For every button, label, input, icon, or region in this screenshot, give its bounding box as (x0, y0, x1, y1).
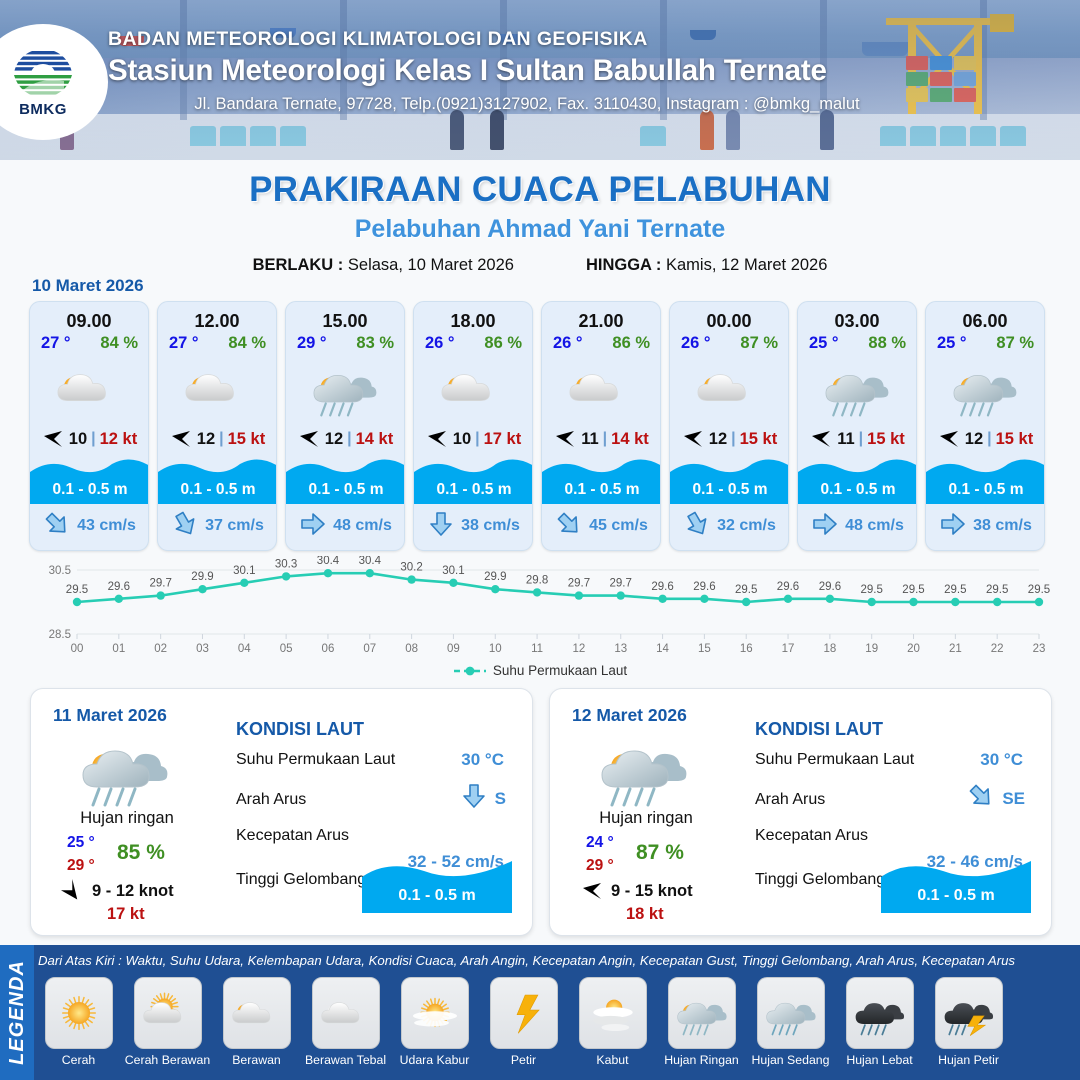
forecast-card: 12.00 27 ° 84 % 12 | 15 kt 0.1 - 0.5 m 3… (157, 301, 277, 551)
legend-note: Dari Atas Kiri : Waktu, Suhu Udara, Kele… (38, 953, 1078, 968)
panel-temp-max: 29 ° (67, 857, 95, 875)
svg-text:03: 03 (196, 643, 209, 655)
card-current-speed: 38 cm/s (461, 517, 520, 535)
panel-wave-band: 0.1 - 0.5 m (881, 855, 1031, 913)
card-current-speed: 32 cm/s (717, 517, 776, 535)
svg-text:29.6: 29.6 (108, 581, 130, 593)
card-wind-separator: | (219, 430, 223, 448)
card-temperature: 26 ° (553, 334, 583, 353)
card-wave-band: 0.1 - 0.5 m (158, 454, 277, 504)
svg-text:19: 19 (865, 643, 878, 655)
legend-marker-icon (453, 665, 487, 677)
svg-text:29.6: 29.6 (651, 581, 673, 593)
svg-text:28.5: 28.5 (49, 629, 71, 641)
header-text-block: BADAN METEOROLOGI KLIMATOLOGI DAN GEOFIS… (108, 28, 946, 114)
card-gust: 15 kt (740, 430, 778, 449)
legend-item: Berawan (214, 977, 299, 1067)
svg-text:01: 01 (112, 643, 125, 655)
svg-text:30.1: 30.1 (233, 565, 255, 577)
card-gust: 15 kt (996, 430, 1034, 449)
card-wind-speed: 12 (197, 430, 215, 449)
daily-summary-panel: 11 Maret 2026 Hujan ringan 25 ° 29 ° 85 … (30, 688, 533, 936)
card-wind-row: 11 | 14 kt (542, 427, 660, 451)
svg-text:14: 14 (656, 643, 669, 655)
svg-text:12: 12 (573, 643, 586, 655)
panel-temp-min: 25 ° (67, 834, 95, 852)
svg-text:00: 00 (71, 643, 84, 655)
card-temp-hum-row: 25 ° 87 % (926, 332, 1044, 353)
station-name: Stasiun Meteorologi Kelas I Sultan Babul… (108, 54, 946, 88)
card-wind-speed: 11 (837, 430, 854, 449)
validity-from-label: BERLAKU : (253, 256, 344, 274)
card-wave-height: 0.1 - 0.5 m (30, 481, 149, 499)
legend-icon-hujan-lebat (846, 977, 914, 1049)
current-direction-arrow-icon (428, 511, 454, 542)
card-temp-hum-row: 27 ° 84 % (158, 332, 276, 353)
card-weather-icon-hujan-ringan (798, 357, 916, 419)
panel-gust: 17 kt (107, 905, 145, 924)
panel-weather-icon-hujan-ringan (75, 729, 175, 807)
card-current-row: 43 cm/s (30, 510, 149, 542)
forecast-day-label: 10 Maret 2026 (32, 276, 144, 296)
panel-condition: Hujan ringan (556, 809, 736, 828)
svg-text:29.7: 29.7 (610, 578, 632, 590)
card-wave-band: 0.1 - 0.5 m (30, 454, 149, 504)
legend-item: Berawan Tebal (303, 977, 388, 1067)
wind-direction-arrow-icon (41, 429, 65, 449)
legend-section: LEGENDA Dari Atas Kiri : Waktu, Suhu Uda… (0, 945, 1080, 1080)
card-temperature: 26 ° (681, 334, 711, 353)
card-wind-speed: 12 (709, 430, 727, 449)
svg-text:20: 20 (907, 643, 920, 655)
bmkg-logo-text: BMKG (19, 101, 67, 118)
card-wind-row: 12 | 15 kt (158, 427, 276, 451)
wind-direction-arrow-icon (681, 429, 705, 449)
legend-item: Udara Kabur (392, 977, 477, 1067)
panel-current-dir-label: Arah Arus (236, 791, 306, 809)
card-humidity: 88 % (868, 334, 906, 353)
card-humidity: 84 % (100, 334, 138, 353)
card-humidity: 84 % (228, 334, 266, 353)
panel-date: 12 Maret 2026 (572, 705, 687, 726)
bmkg-emblem-icon (12, 47, 74, 99)
legend-icon-berawan-tebal (312, 977, 380, 1049)
svg-text:04: 04 (238, 643, 251, 655)
card-humidity: 87 % (740, 334, 778, 353)
wind-direction-arrow-icon (580, 881, 604, 901)
panel-weather-icon-hujan-ringan (594, 729, 694, 807)
card-wind-row: 11 | 15 kt (798, 427, 916, 451)
current-direction-arrow-icon (172, 511, 198, 542)
wind-direction-arrow-icon (553, 429, 577, 449)
panel-wave-label: Tinggi Gelombang (236, 871, 366, 889)
card-weather-icon-hujan-ringan (926, 357, 1044, 419)
card-wind-separator: | (731, 430, 735, 448)
card-gust: 14 kt (356, 430, 394, 449)
legend-item: Hujan Ringan (659, 977, 744, 1067)
card-wave-height: 0.1 - 0.5 m (798, 481, 917, 499)
forecast-card: 15.00 29 ° 83 % 12 | 14 kt 0.1 - 0.5 m 4… (285, 301, 405, 551)
svg-text:17: 17 (782, 643, 795, 655)
card-temperature: 25 ° (937, 334, 967, 353)
svg-text:29.6: 29.6 (777, 581, 799, 593)
svg-text:30.5: 30.5 (49, 565, 71, 577)
page-subtitle: Pelabuhan Ahmad Yani Ternate (0, 215, 1080, 244)
card-wind-speed: 12 (965, 430, 983, 449)
legend-item-label: Petir (511, 1053, 536, 1067)
svg-text:13: 13 (614, 643, 627, 655)
panel-wind-row: 9 - 15 knot (580, 881, 693, 901)
card-current-row: 37 cm/s (158, 510, 277, 542)
card-humidity: 86 % (484, 334, 522, 353)
svg-text:30.1: 30.1 (442, 565, 464, 577)
card-temp-hum-row: 27 ° 84 % (30, 332, 148, 353)
card-temp-hum-row: 29 ° 83 % (286, 332, 404, 353)
card-wind-row: 12 | 14 kt (286, 427, 404, 451)
card-wave-band: 0.1 - 0.5 m (670, 454, 789, 504)
wind-direction-arrow-icon (937, 429, 961, 449)
card-wind-separator: | (347, 430, 351, 448)
legend-item-label: Berawan Tebal (305, 1053, 386, 1067)
card-temperature: 27 ° (41, 334, 71, 353)
svg-text:29.5: 29.5 (1028, 584, 1050, 596)
hourly-forecast-row: 09.00 27 ° 84 % 10 | 12 kt 0.1 - 0.5 m 4… (29, 301, 1051, 551)
card-weather-icon-hujan-ringan (286, 357, 404, 419)
panel-current-dir-row: SE (968, 783, 1025, 814)
svg-text:09: 09 (447, 643, 460, 655)
card-gust: 14 kt (611, 430, 649, 449)
panel-sst-label: Suhu Permukaan Laut (755, 751, 914, 769)
sst-chart-plot: 30.528.500010203040506070809101112131415… (29, 556, 1051, 656)
panel-wind-range: 9 - 15 knot (611, 882, 693, 901)
legend-item-label: Hujan Petir (938, 1053, 999, 1067)
card-current-speed: 48 cm/s (845, 517, 904, 535)
card-wind-row: 12 | 15 kt (670, 427, 788, 451)
svg-text:10: 10 (489, 643, 502, 655)
svg-text:30.4: 30.4 (317, 556, 340, 567)
card-current-speed: 45 cm/s (589, 517, 648, 535)
card-wave-height: 0.1 - 0.5 m (286, 481, 405, 499)
panel-humidity: 87 % (636, 841, 684, 865)
panel-wave-label: Tinggi Gelombang (755, 871, 885, 889)
legend-item-label: Hujan Sedang (752, 1053, 830, 1067)
legend-item-label: Cerah (62, 1053, 96, 1067)
legend-item-label: Hujan Lebat (846, 1053, 912, 1067)
current-direction-arrow-icon (461, 783, 487, 814)
card-gust: 15 kt (228, 430, 266, 449)
card-wave-height: 0.1 - 0.5 m (542, 481, 661, 499)
card-wave-band: 0.1 - 0.5 m (798, 454, 917, 504)
card-current-row: 32 cm/s (670, 510, 789, 542)
panel-wave-value: 0.1 - 0.5 m (362, 887, 512, 905)
validity-to-label: HINGGA : (586, 256, 661, 274)
panel-current-speed-label: Kecepatan Arus (236, 827, 349, 845)
card-weather-icon-berawan (30, 357, 148, 419)
current-direction-arrow-icon (684, 511, 710, 542)
card-weather-icon-berawan (158, 357, 276, 419)
svg-text:29.9: 29.9 (191, 571, 213, 583)
wind-direction-arrow-icon (297, 429, 321, 449)
svg-text:29.5: 29.5 (735, 584, 757, 596)
card-wind-separator: | (859, 430, 863, 448)
panel-wave-value: 0.1 - 0.5 m (881, 887, 1031, 905)
svg-text:29.5: 29.5 (986, 584, 1008, 596)
svg-text:21: 21 (949, 643, 962, 655)
svg-text:29.6: 29.6 (819, 581, 841, 593)
legend-icon-udara-kabur (401, 977, 469, 1049)
legend-item: Hujan Sedang (748, 977, 833, 1067)
wind-direction-arrow-icon (61, 881, 85, 901)
panel-current-dir-label: Arah Arus (755, 791, 825, 809)
legend-side-bar: LEGENDA (0, 945, 34, 1080)
legend-item: Cerah Berawan (125, 977, 210, 1067)
validity-to: HINGGA : Kamis, 12 Maret 2026 (586, 256, 827, 274)
card-wind-speed: 11 (581, 430, 598, 449)
current-direction-arrow-icon (556, 511, 582, 542)
card-wind-row: 10 | 12 kt (30, 427, 148, 451)
panel-gust: 18 kt (626, 905, 664, 924)
card-gust: 17 kt (484, 430, 522, 449)
forecast-card: 06.00 25 ° 87 % 12 | 15 kt 0.1 - 0.5 m 3… (925, 301, 1045, 551)
svg-text:05: 05 (280, 643, 293, 655)
panel-current-dir-value: SE (1002, 789, 1025, 809)
svg-text:23: 23 (1033, 643, 1046, 655)
current-direction-arrow-icon (300, 511, 326, 542)
card-temperature: 27 ° (169, 334, 199, 353)
card-current-speed: 38 cm/s (973, 517, 1032, 535)
svg-text:29.5: 29.5 (902, 584, 924, 596)
legend-item-label: Cerah Berawan (125, 1053, 210, 1067)
panel-current-speed-label: Kecepatan Arus (755, 827, 868, 845)
svg-text:29.5: 29.5 (66, 584, 88, 596)
card-current-row: 48 cm/s (286, 510, 405, 542)
legend-item-label: Udara Kabur (400, 1053, 470, 1067)
validity-from-value: Selasa, 10 Maret 2026 (348, 256, 514, 274)
card-wave-height: 0.1 - 0.5 m (158, 481, 277, 499)
panel-sst-value: 30 °C (980, 750, 1023, 770)
svg-text:29.9: 29.9 (484, 571, 506, 583)
forecast-card: 03.00 25 ° 88 % 11 | 15 kt 0.1 - 0.5 m 4… (797, 301, 917, 551)
card-temperature: 25 ° (809, 334, 839, 353)
daily-summary-row: 11 Maret 2026 Hujan ringan 25 ° 29 ° 85 … (30, 688, 1052, 936)
card-wind-speed: 10 (453, 430, 471, 449)
svg-text:29.5: 29.5 (944, 584, 966, 596)
card-current-speed: 37 cm/s (205, 517, 264, 535)
card-temp-hum-row: 26 ° 86 % (414, 332, 532, 353)
card-temp-hum-row: 26 ° 86 % (542, 332, 660, 353)
card-wave-height: 0.1 - 0.5 m (414, 481, 533, 499)
card-humidity: 86 % (612, 334, 650, 353)
svg-text:22: 22 (991, 643, 1004, 655)
current-direction-arrow-icon (940, 511, 966, 542)
legend-icon-hujan-sedang (757, 977, 825, 1049)
card-current-row: 45 cm/s (542, 510, 661, 542)
legend-icon-petir (490, 977, 558, 1049)
panel-sst-value: 30 °C (461, 750, 504, 770)
card-wind-speed: 10 (69, 430, 87, 449)
legend-item: Hujan Lebat (837, 977, 922, 1067)
svg-text:29.5: 29.5 (861, 584, 883, 596)
panel-humidity: 85 % (117, 841, 165, 865)
panel-wind-range: 9 - 12 knot (92, 882, 174, 901)
card-wind-row: 12 | 15 kt (926, 427, 1044, 451)
card-current-row: 38 cm/s (926, 510, 1045, 542)
legend-icon-berawan (223, 977, 291, 1049)
validity-range: BERLAKU : Selasa, 10 Maret 2026HINGGA : … (0, 256, 1080, 275)
panel-temp-min: 24 ° (586, 834, 614, 852)
card-time: 18.00 (414, 311, 532, 332)
card-wind-row: 10 | 17 kt (414, 427, 532, 451)
card-time: 00.00 (670, 311, 788, 332)
panel-wave-band: 0.1 - 0.5 m (362, 855, 512, 913)
legend-item-label: Berawan (232, 1053, 281, 1067)
card-weather-icon-berawan (542, 357, 660, 419)
card-temperature: 29 ° (297, 334, 327, 353)
svg-text:06: 06 (322, 643, 335, 655)
svg-text:29.7: 29.7 (568, 578, 590, 590)
chart-legend-label: Suhu Permukaan Laut (493, 663, 627, 678)
svg-text:29.6: 29.6 (693, 581, 715, 593)
legend-item-label: Hujan Ringan (664, 1053, 739, 1067)
legend-item: Cerah (36, 977, 121, 1067)
panel-date: 11 Maret 2026 (53, 705, 167, 726)
page-header: BMKG BADAN METEOROLOGI KLIMATOLOGI DAN G… (0, 0, 1080, 160)
svg-text:29.8: 29.8 (526, 574, 548, 586)
card-humidity: 87 % (996, 334, 1034, 353)
legend-icon-kabut (579, 977, 647, 1049)
card-time: 06.00 (926, 311, 1044, 332)
page-title: PRAKIRAAN CUACA PELABUHAN (0, 170, 1080, 210)
forecast-card: 00.00 26 ° 87 % 12 | 15 kt 0.1 - 0.5 m 3… (669, 301, 789, 551)
chart-legend: Suhu Permukaan Laut (29, 663, 1051, 678)
legend-item: Kabut (570, 977, 655, 1067)
svg-text:30.4: 30.4 (359, 556, 382, 567)
wind-direction-arrow-icon (809, 429, 833, 449)
validity-to-value: Kamis, 12 Maret 2026 (666, 256, 827, 274)
legend-side-title: LEGENDA (6, 960, 29, 1065)
card-wind-speed: 12 (325, 430, 343, 449)
card-wave-band: 0.1 - 0.5 m (542, 454, 661, 504)
panel-sea-title: KONDISI LAUT (755, 719, 883, 740)
card-current-speed: 48 cm/s (333, 517, 392, 535)
card-temp-hum-row: 25 ° 88 % (798, 332, 916, 353)
forecast-card: 18.00 26 ° 86 % 10 | 17 kt 0.1 - 0.5 m 3… (413, 301, 533, 551)
forecast-card: 21.00 26 ° 86 % 11 | 14 kt 0.1 - 0.5 m 4… (541, 301, 661, 551)
card-wind-separator: | (475, 430, 479, 448)
sst-chart: 30.528.500010203040506070809101112131415… (29, 556, 1051, 684)
legend-icon-hujan-petir (935, 977, 1003, 1049)
current-direction-arrow-icon (812, 511, 838, 542)
current-direction-arrow-icon (44, 511, 70, 542)
svg-text:02: 02 (154, 643, 167, 655)
card-current-row: 38 cm/s (414, 510, 533, 542)
forecast-card: 09.00 27 ° 84 % 10 | 12 kt 0.1 - 0.5 m 4… (29, 301, 149, 551)
svg-text:30.3: 30.3 (275, 558, 297, 570)
wind-direction-arrow-icon (425, 429, 449, 449)
card-temperature: 26 ° (425, 334, 455, 353)
card-time: 21.00 (542, 311, 660, 332)
panel-wind-row: 9 - 12 knot (61, 881, 174, 901)
card-wave-band: 0.1 - 0.5 m (414, 454, 533, 504)
card-wave-height: 0.1 - 0.5 m (926, 481, 1045, 499)
svg-text:30.2: 30.2 (400, 562, 422, 574)
panel-sst-label: Suhu Permukaan Laut (236, 751, 395, 769)
svg-text:07: 07 (363, 643, 376, 655)
svg-text:18: 18 (823, 643, 836, 655)
card-time: 15.00 (286, 311, 404, 332)
card-wave-height: 0.1 - 0.5 m (670, 481, 789, 499)
agency-name: BADAN METEOROLOGI KLIMATOLOGI DAN GEOFIS… (108, 28, 946, 51)
card-current-speed: 43 cm/s (77, 517, 136, 535)
panel-condition: Hujan ringan (37, 809, 217, 828)
svg-text:15: 15 (698, 643, 711, 655)
legend-items-row: Cerah Cerah Berawan Berawan Berawan Teba… (36, 977, 1080, 1067)
svg-text:08: 08 (405, 643, 418, 655)
panel-current-dir-row: S (461, 783, 506, 814)
panel-current-dir-value: S (495, 789, 506, 809)
card-humidity: 83 % (356, 334, 394, 353)
card-weather-icon-berawan (670, 357, 788, 419)
card-wave-band: 0.1 - 0.5 m (286, 454, 405, 504)
panel-sea-title: KONDISI LAUT (236, 719, 364, 740)
station-address: Jl. Bandara Ternate, 97728, Telp.(0921)3… (108, 95, 946, 114)
card-gust: 12 kt (100, 430, 138, 449)
card-weather-icon-berawan (414, 357, 532, 419)
card-wind-separator: | (987, 430, 991, 448)
validity-from: BERLAKU : Selasa, 10 Maret 2026 (253, 256, 514, 274)
title-block: PRAKIRAAN CUACA PELABUHAN Pelabuhan Ahma… (0, 170, 1080, 275)
card-wind-separator: | (603, 430, 607, 448)
svg-text:16: 16 (740, 643, 753, 655)
legend-item-label: Kabut (596, 1053, 628, 1067)
panel-temp-max: 29 ° (586, 857, 614, 875)
legend-item: Petir (481, 977, 566, 1067)
current-direction-arrow-icon (968, 783, 994, 814)
card-wave-band: 0.1 - 0.5 m (926, 454, 1045, 504)
svg-text:29.7: 29.7 (150, 578, 172, 590)
card-gust: 15 kt (867, 430, 905, 449)
card-time: 12.00 (158, 311, 276, 332)
svg-text:11: 11 (531, 643, 543, 655)
card-current-row: 48 cm/s (798, 510, 917, 542)
card-time: 09.00 (30, 311, 148, 332)
card-wind-separator: | (91, 430, 95, 448)
legend-icon-hujan-ringan (668, 977, 736, 1049)
legend-item: Hujan Petir (926, 977, 1011, 1067)
card-temp-hum-row: 26 ° 87 % (670, 332, 788, 353)
daily-summary-panel: 12 Maret 2026 Hujan ringan 24 ° 29 ° 87 … (549, 688, 1052, 936)
legend-icon-cerah (45, 977, 113, 1049)
wind-direction-arrow-icon (169, 429, 193, 449)
legend-icon-cerah-berawan (134, 977, 202, 1049)
card-time: 03.00 (798, 311, 916, 332)
